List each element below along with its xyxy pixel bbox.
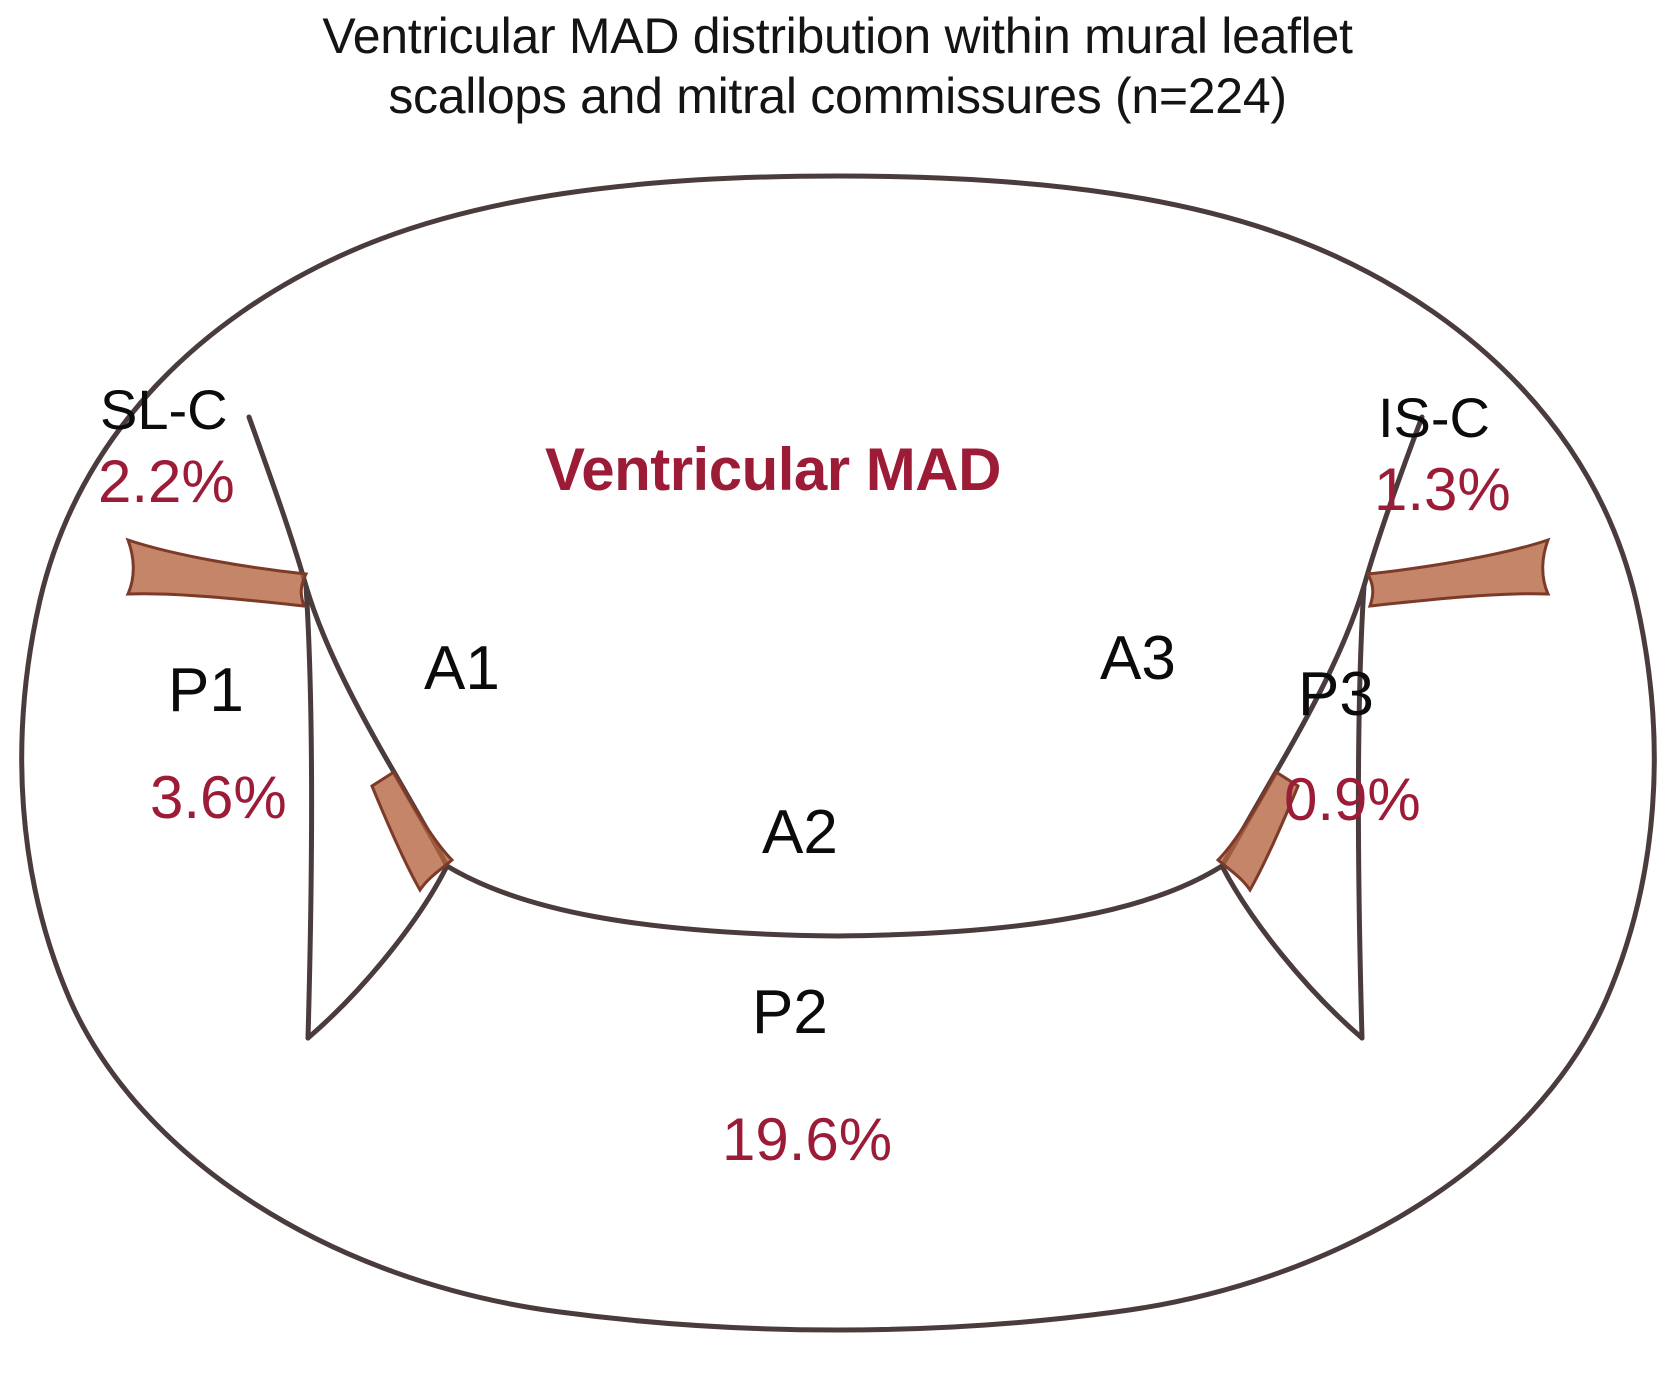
value-scallop-p2: 19.6% xyxy=(722,1110,892,1170)
mitral-valve-schematic xyxy=(0,0,1675,1393)
label-scallop-a2: A2 xyxy=(762,802,838,864)
label-superolateral-commissure: SL-C xyxy=(100,382,228,438)
center-label-ventricular-mad: Ventricular MAD xyxy=(545,440,1001,500)
value-inferoseptal-commissure: 1.3% xyxy=(1374,460,1511,520)
label-scallop-p1: P1 xyxy=(168,660,244,722)
label-scallop-a3: A3 xyxy=(1100,628,1176,690)
scallop-strut-p1-p2 xyxy=(308,866,447,1038)
mad-wedge-p1-p2-junction xyxy=(372,772,452,890)
mitral-valve-mad-figure: Ventricular MAD distribution within mura… xyxy=(0,0,1675,1393)
value-scallop-p1: 3.6% xyxy=(150,768,287,828)
label-scallop-p2: P2 xyxy=(752,982,828,1044)
label-inferoseptal-commissure: IS-C xyxy=(1378,390,1490,446)
label-scallop-p3: P3 xyxy=(1298,664,1374,726)
value-superolateral-commissure: 2.2% xyxy=(98,452,235,512)
coaptation-line-central-arc xyxy=(447,866,1222,936)
mad-wedge-superolateral-commissure xyxy=(128,540,306,606)
commissure-strut-left xyxy=(306,586,312,1038)
value-scallop-p3: 0.9% xyxy=(1284,770,1421,830)
label-scallop-a1: A1 xyxy=(424,638,500,700)
scallop-strut-p2-p3 xyxy=(1222,866,1362,1038)
mad-wedge-inferoseptal-commissure xyxy=(1368,540,1548,606)
